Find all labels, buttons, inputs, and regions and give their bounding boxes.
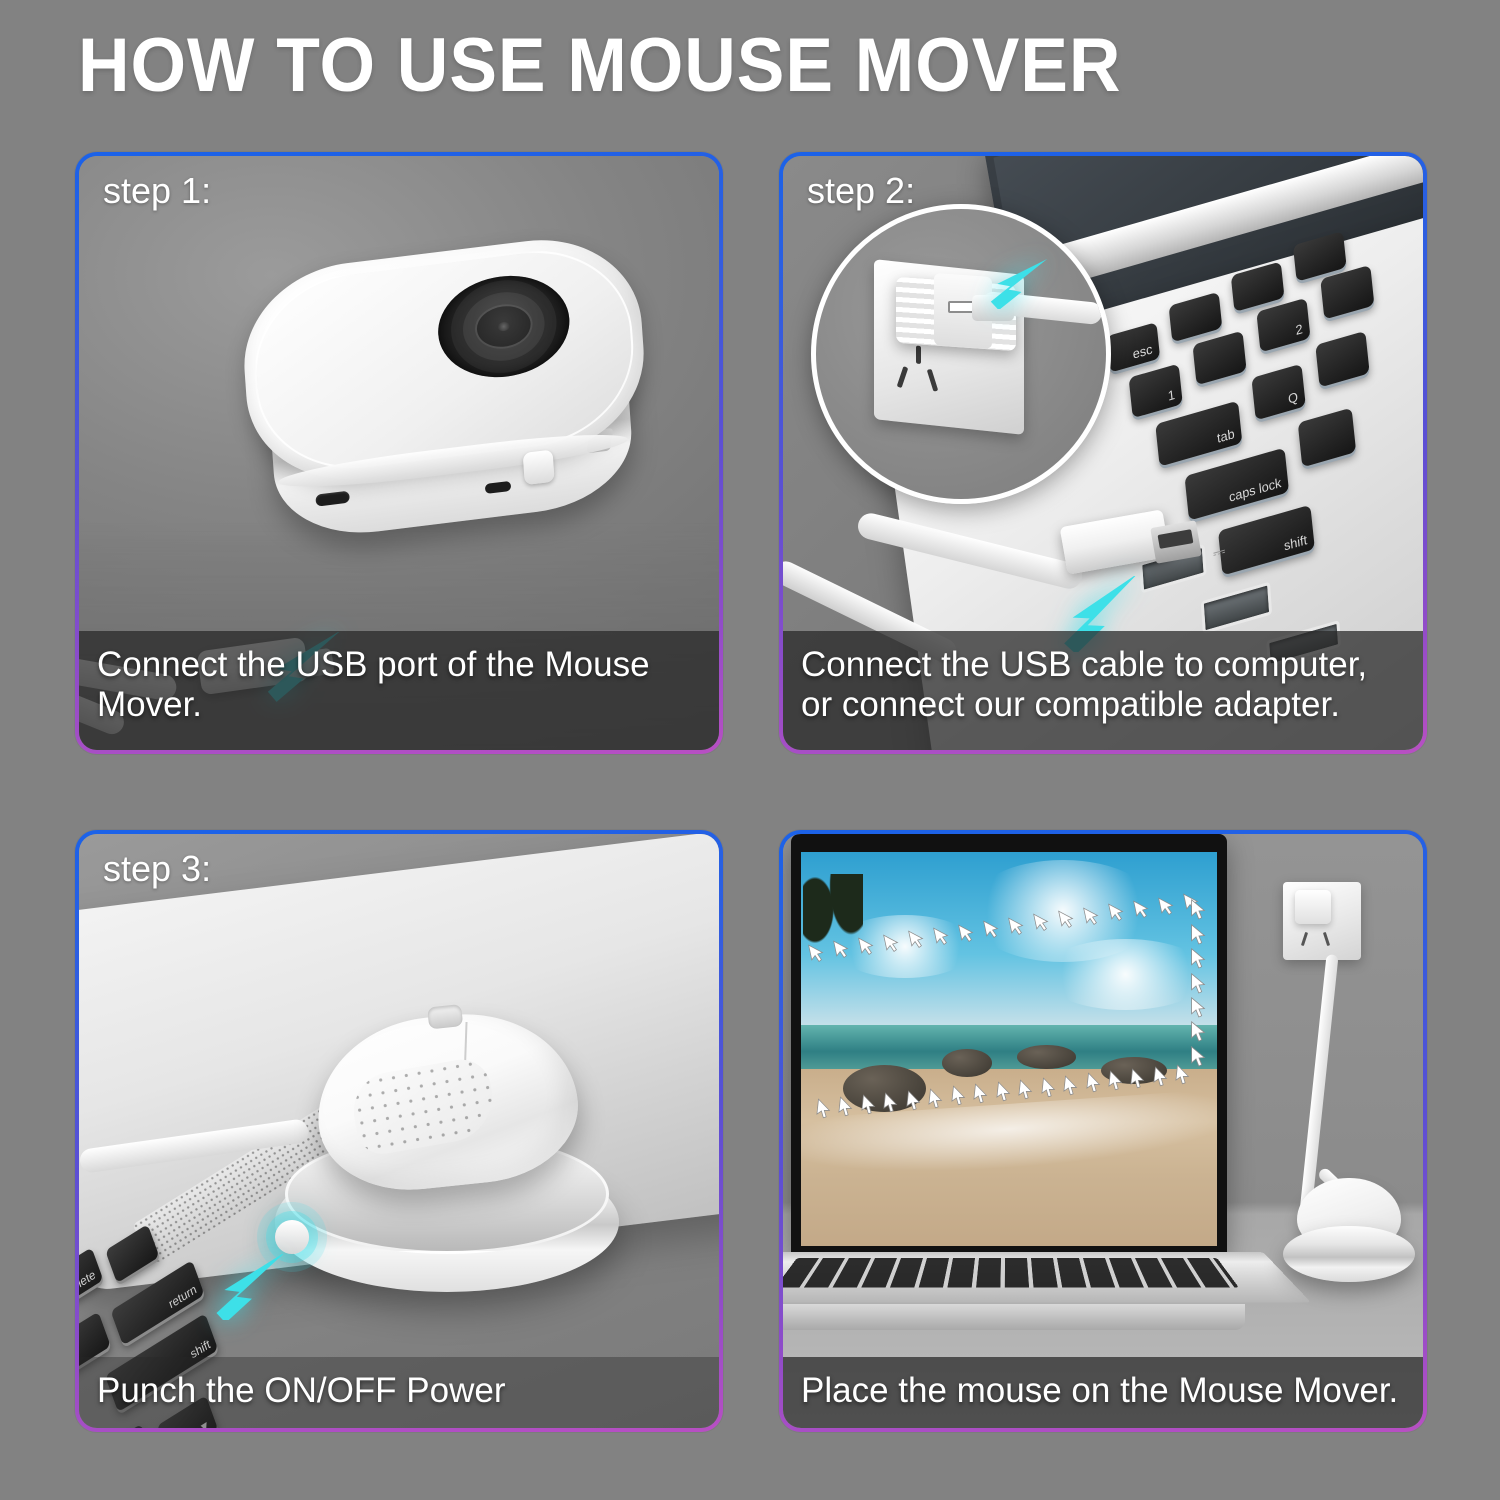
cursor-icon — [1084, 906, 1099, 926]
page-title: HOW TO USE MOUSE MOVER — [78, 22, 1121, 109]
rock — [1017, 1045, 1075, 1069]
key-delete: delete — [79, 1247, 103, 1315]
cursor-icon — [834, 939, 849, 959]
cursor-icon — [906, 1091, 921, 1111]
cursor-icon — [859, 936, 874, 956]
steps-grid: step 1: Connect the USB port of the Mous… — [75, 152, 1427, 1432]
cursor-icon — [1130, 1069, 1145, 1089]
cursor-icon — [1059, 909, 1074, 929]
cursor-icon — [883, 1093, 898, 1113]
cursor-icon — [1175, 1065, 1190, 1085]
step-panel-3: delete return shift ▲ ▼ ▲ — [75, 830, 723, 1432]
step-panel-1: step 1: Connect the USB port of the Mous… — [75, 152, 723, 754]
cursor-icon — [984, 919, 999, 939]
cursor-icon — [816, 1099, 831, 1119]
key-q: Q — [1251, 364, 1305, 421]
cloud — [1042, 939, 1208, 1010]
power-adapter — [1295, 890, 1331, 924]
cursor-icon — [1134, 899, 1149, 919]
cursor-icon — [1190, 1046, 1206, 1068]
outlet-slot-3 — [916, 346, 921, 365]
wall-outlet — [1283, 882, 1361, 960]
cursor-icon — [838, 1097, 853, 1117]
step-panel-2-content: esc 1 2 tab Q caps lock shift ⎓ ⎓ — [783, 156, 1423, 750]
cursor-icon — [928, 1089, 943, 1109]
cursor-icon — [934, 926, 949, 946]
cursor-icon — [1159, 896, 1174, 916]
mouse-mover-base — [1283, 1226, 1415, 1282]
cursor-icon — [1108, 1071, 1123, 1091]
cursor-icon — [809, 943, 824, 963]
cursor-icon — [909, 929, 924, 949]
cursor-icon — [959, 923, 974, 943]
step-panel-4-content: Place the mouse on the Mouse Mover. — [783, 834, 1423, 1428]
step-panel-3-content: delete return shift ▲ ▼ ▲ — [79, 834, 719, 1428]
outlet-slot-1 — [897, 366, 909, 388]
cursor-icon — [996, 1082, 1011, 1102]
step-panel-1-content: step 1: Connect the USB port of the Mous… — [79, 156, 719, 750]
cursor-icon — [1190, 948, 1206, 970]
wall-adapter-callout — [811, 204, 1111, 504]
key-tab: tab — [1155, 401, 1242, 467]
step-panel-2: esc 1 2 tab Q caps lock shift ⎓ ⎓ — [779, 152, 1427, 754]
cursor-icon — [1063, 1076, 1078, 1096]
key-2: 2 — [1256, 298, 1310, 353]
cursor-icon — [973, 1084, 988, 1104]
key-tilde — [1192, 331, 1246, 386]
power-button — [275, 1220, 309, 1254]
cursor-icon — [1018, 1080, 1033, 1100]
step-label-1: step 1: — [103, 170, 211, 212]
usb-a-connector — [1150, 520, 1202, 563]
side-button — [523, 450, 555, 486]
outlet-slot-2 — [927, 369, 939, 392]
mouse-mover-device — [238, 228, 656, 576]
cursor-icon — [861, 1095, 876, 1115]
rock — [942, 1049, 992, 1077]
outlet-slot-1 — [1301, 932, 1308, 946]
mouse-scroll-wheel — [427, 1004, 463, 1029]
adapter-usb-port — [948, 301, 974, 313]
key-w — [1315, 331, 1369, 388]
cursor-icon — [951, 1086, 966, 1106]
key-3 — [1320, 265, 1374, 320]
cursor-icon — [1190, 973, 1206, 995]
cursor-icon — [1190, 924, 1206, 946]
key-1: 1 — [1129, 364, 1183, 419]
cursor-icon — [1034, 912, 1049, 932]
cursor-icon — [1190, 899, 1206, 921]
key-backslash — [105, 1224, 159, 1283]
step-label-2: step 2: — [807, 170, 915, 212]
step-label-3: step 3: — [103, 848, 211, 890]
cursor-icon — [1190, 997, 1206, 1019]
step-caption-3: Punch the ON/OFF Power — [79, 1357, 719, 1428]
usb-icon-2: ⎓ — [1212, 543, 1226, 565]
laptop — [791, 834, 1227, 1254]
cursor-icon — [1153, 1067, 1168, 1087]
step-caption-4: Place the mouse on the Mouse Mover. — [783, 1357, 1423, 1428]
palm-tree — [803, 874, 863, 994]
step-caption-1: Connect the USB port of the Mouse Mover. — [79, 631, 719, 750]
step-caption-2: Connect the USB cable to computer, or co… — [783, 631, 1423, 750]
cursor-icon — [1041, 1078, 1056, 1098]
outlet-slot-2 — [1323, 932, 1330, 946]
cursor-icon — [884, 933, 899, 953]
cursor-icon — [1009, 916, 1024, 936]
laptop-keyboard — [783, 1258, 1239, 1288]
cursor-icon — [1190, 1021, 1206, 1043]
key-esc: esc — [1106, 322, 1160, 373]
laptop-front-edge — [783, 1304, 1245, 1330]
usb-port-3 — [1201, 582, 1272, 634]
step-panel-4: Place the mouse on the Mouse Mover. — [779, 830, 1427, 1432]
mouse-grip-texture — [348, 1055, 500, 1158]
beach-wallpaper — [801, 852, 1217, 1246]
cursor-icon — [1086, 1073, 1101, 1093]
cursor-icon — [1109, 902, 1124, 922]
